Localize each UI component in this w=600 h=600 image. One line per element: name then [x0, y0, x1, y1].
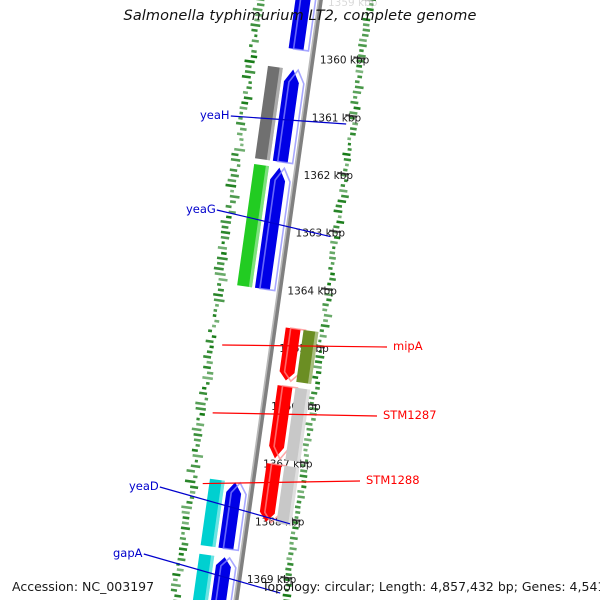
- genome-viewer-window: 1359 kbp1360 kbp1361 kbp1362 kbp1363 kbp…: [0, 0, 600, 600]
- axis-tick-label: 1362 kbp: [304, 170, 354, 182]
- genome-map-canvas[interactable]: 1359 kbp1360 kbp1361 kbp1362 kbp1363 kbp…: [0, 0, 600, 600]
- page-title: Salmonella typhimurium LT2, complete gen…: [0, 8, 600, 24]
- gene-label-yeag[interactable]: yeaG: [186, 202, 216, 216]
- axis-tick-label: 1364 kbp: [287, 285, 337, 297]
- gene-label-stm1287[interactable]: STM1287: [383, 408, 437, 422]
- gene-label-yeah[interactable]: yeaH: [200, 108, 230, 122]
- gene-label-stm1288[interactable]: STM1288: [366, 473, 420, 487]
- gene-feature[interactable]: [255, 66, 304, 164]
- gene-feature[interactable]: [192, 554, 236, 600]
- gene-label-mipa[interactable]: mipA: [393, 339, 423, 353]
- gene-feature[interactable]: [280, 327, 319, 384]
- status-genome-info: Topology: circular; Length: 4,857,432 bp…: [262, 579, 600, 594]
- gene-label-yead[interactable]: yeaD: [129, 479, 159, 493]
- axis-tick-label: 1360 kbp: [320, 55, 370, 67]
- status-accession: Accession: NC_003197: [12, 579, 154, 594]
- label-leader-line: [203, 481, 360, 484]
- gene-label-gapa[interactable]: gapA: [113, 546, 143, 560]
- gene-feature[interactable]: [201, 479, 246, 551]
- gene-feature-group[interactable]: [192, 0, 319, 600]
